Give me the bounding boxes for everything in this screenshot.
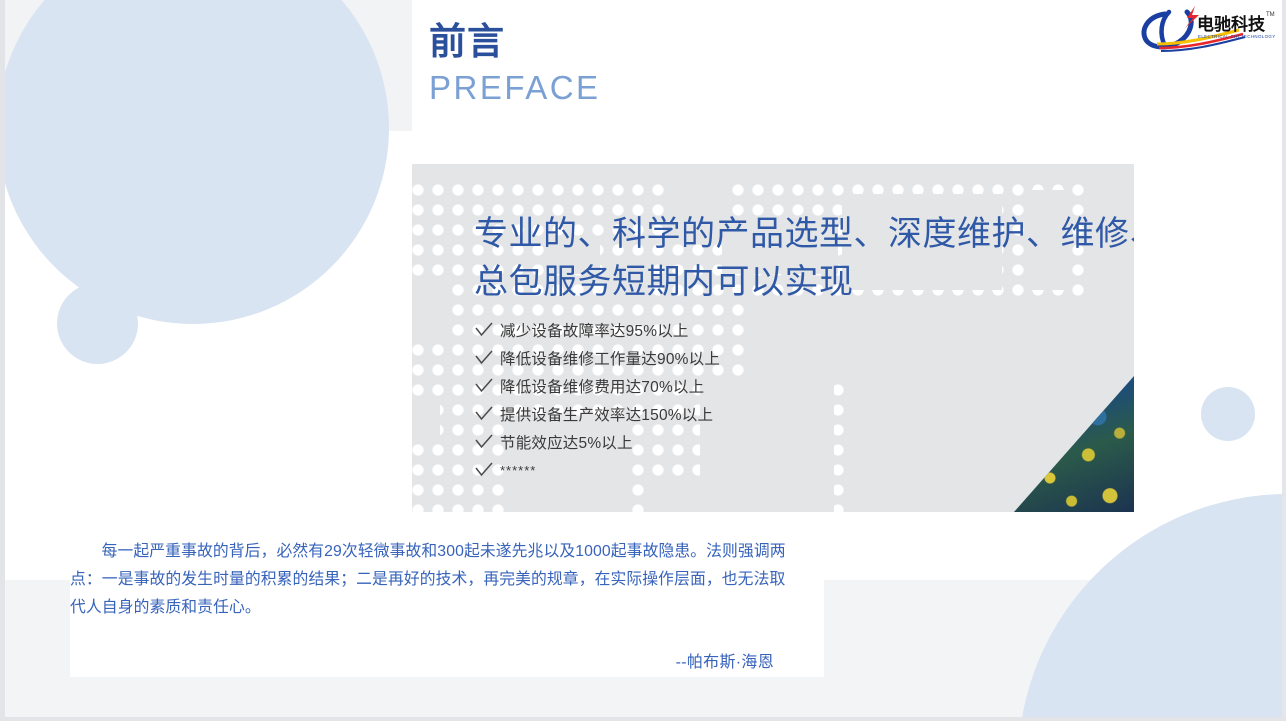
list-item: 减少设备故障率达95%以上 (474, 316, 720, 344)
list-item-label: 减少设备故障率达95%以上 (500, 319, 689, 341)
list-item: 降低设备维修费用达70%以上 (474, 372, 720, 400)
list-item-label: 节能效应达5%以上 (500, 431, 633, 453)
company-logo: 电驰科技 ELECTRICAL CHI TECHNOLOGY TM (1130, 0, 1282, 58)
list-item: 提供设备生产效率达150%以上 (474, 400, 720, 428)
quote-card: 每一起严重事故的背后，必然有29次轻微事故和300起未遂先兆以及1000起事故隐… (70, 528, 824, 677)
slide-edge-right (1282, 0, 1286, 721)
check-icon (474, 378, 500, 394)
dianchi-technology-logo-icon: 电驰科技 ELECTRICAL CHI TECHNOLOGY TM (1135, 4, 1277, 54)
check-icon (474, 350, 500, 366)
svg-text:ELECTRICAL CHI TECHNOLOGY: ELECTRICAL CHI TECHNOLOGY (1198, 34, 1276, 39)
highlight-card: 专业的、科学的产品选型、深度维护、维修、总包服务短期内可以实现 减少设备故障率达… (412, 164, 1134, 512)
quote-text: 每一起严重事故的背后，必然有29次轻微事故和300起未遂先兆以及1000起事故隐… (70, 538, 798, 622)
card-heading: 专业的、科学的产品选型、深度维护、维修、总包服务短期内可以实现 (474, 210, 1134, 307)
slide-canvas: 前言 PREFACE 电驰科技 ELECTRICAL CHI TECHNOLOG… (0, 0, 1286, 721)
check-icon (474, 434, 500, 450)
decorative-circle-small-right (1201, 387, 1255, 441)
quote-attribution: --帕布斯·海恩 (70, 648, 798, 672)
page-title-chinese: 前言 (429, 22, 505, 63)
check-icon (474, 406, 500, 422)
slide-header: 前言 PREFACE (412, 0, 1134, 131)
page-title-english: PREFACE (429, 70, 601, 106)
list-item-label: 降低设备维修工作量达90%以上 (500, 347, 720, 369)
check-icon (474, 322, 500, 338)
check-icon (474, 462, 500, 478)
decorative-circle-small-left (57, 283, 138, 364)
benefit-list: 减少设备故障率达95%以上 降低设备维修工作量达90%以上 降低设备维修费用达7… (474, 316, 720, 484)
slide-edge-bottom (0, 717, 1286, 721)
svg-text:电驰科技: 电驰科技 (1197, 14, 1266, 35)
list-item-label: 提供设备生产效率达150%以上 (500, 403, 713, 425)
svg-text:TM: TM (1266, 12, 1275, 18)
slide-edge-left (0, 0, 5, 721)
list-item: ****** (474, 456, 720, 484)
list-item-label: 降低设备维修费用达70%以上 (500, 375, 704, 397)
background-band-top-left (0, 0, 412, 131)
list-item-label: ****** (500, 463, 536, 478)
list-item: 降低设备维修工作量达90%以上 (474, 344, 720, 372)
list-item: 节能效应达5%以上 (474, 428, 720, 456)
